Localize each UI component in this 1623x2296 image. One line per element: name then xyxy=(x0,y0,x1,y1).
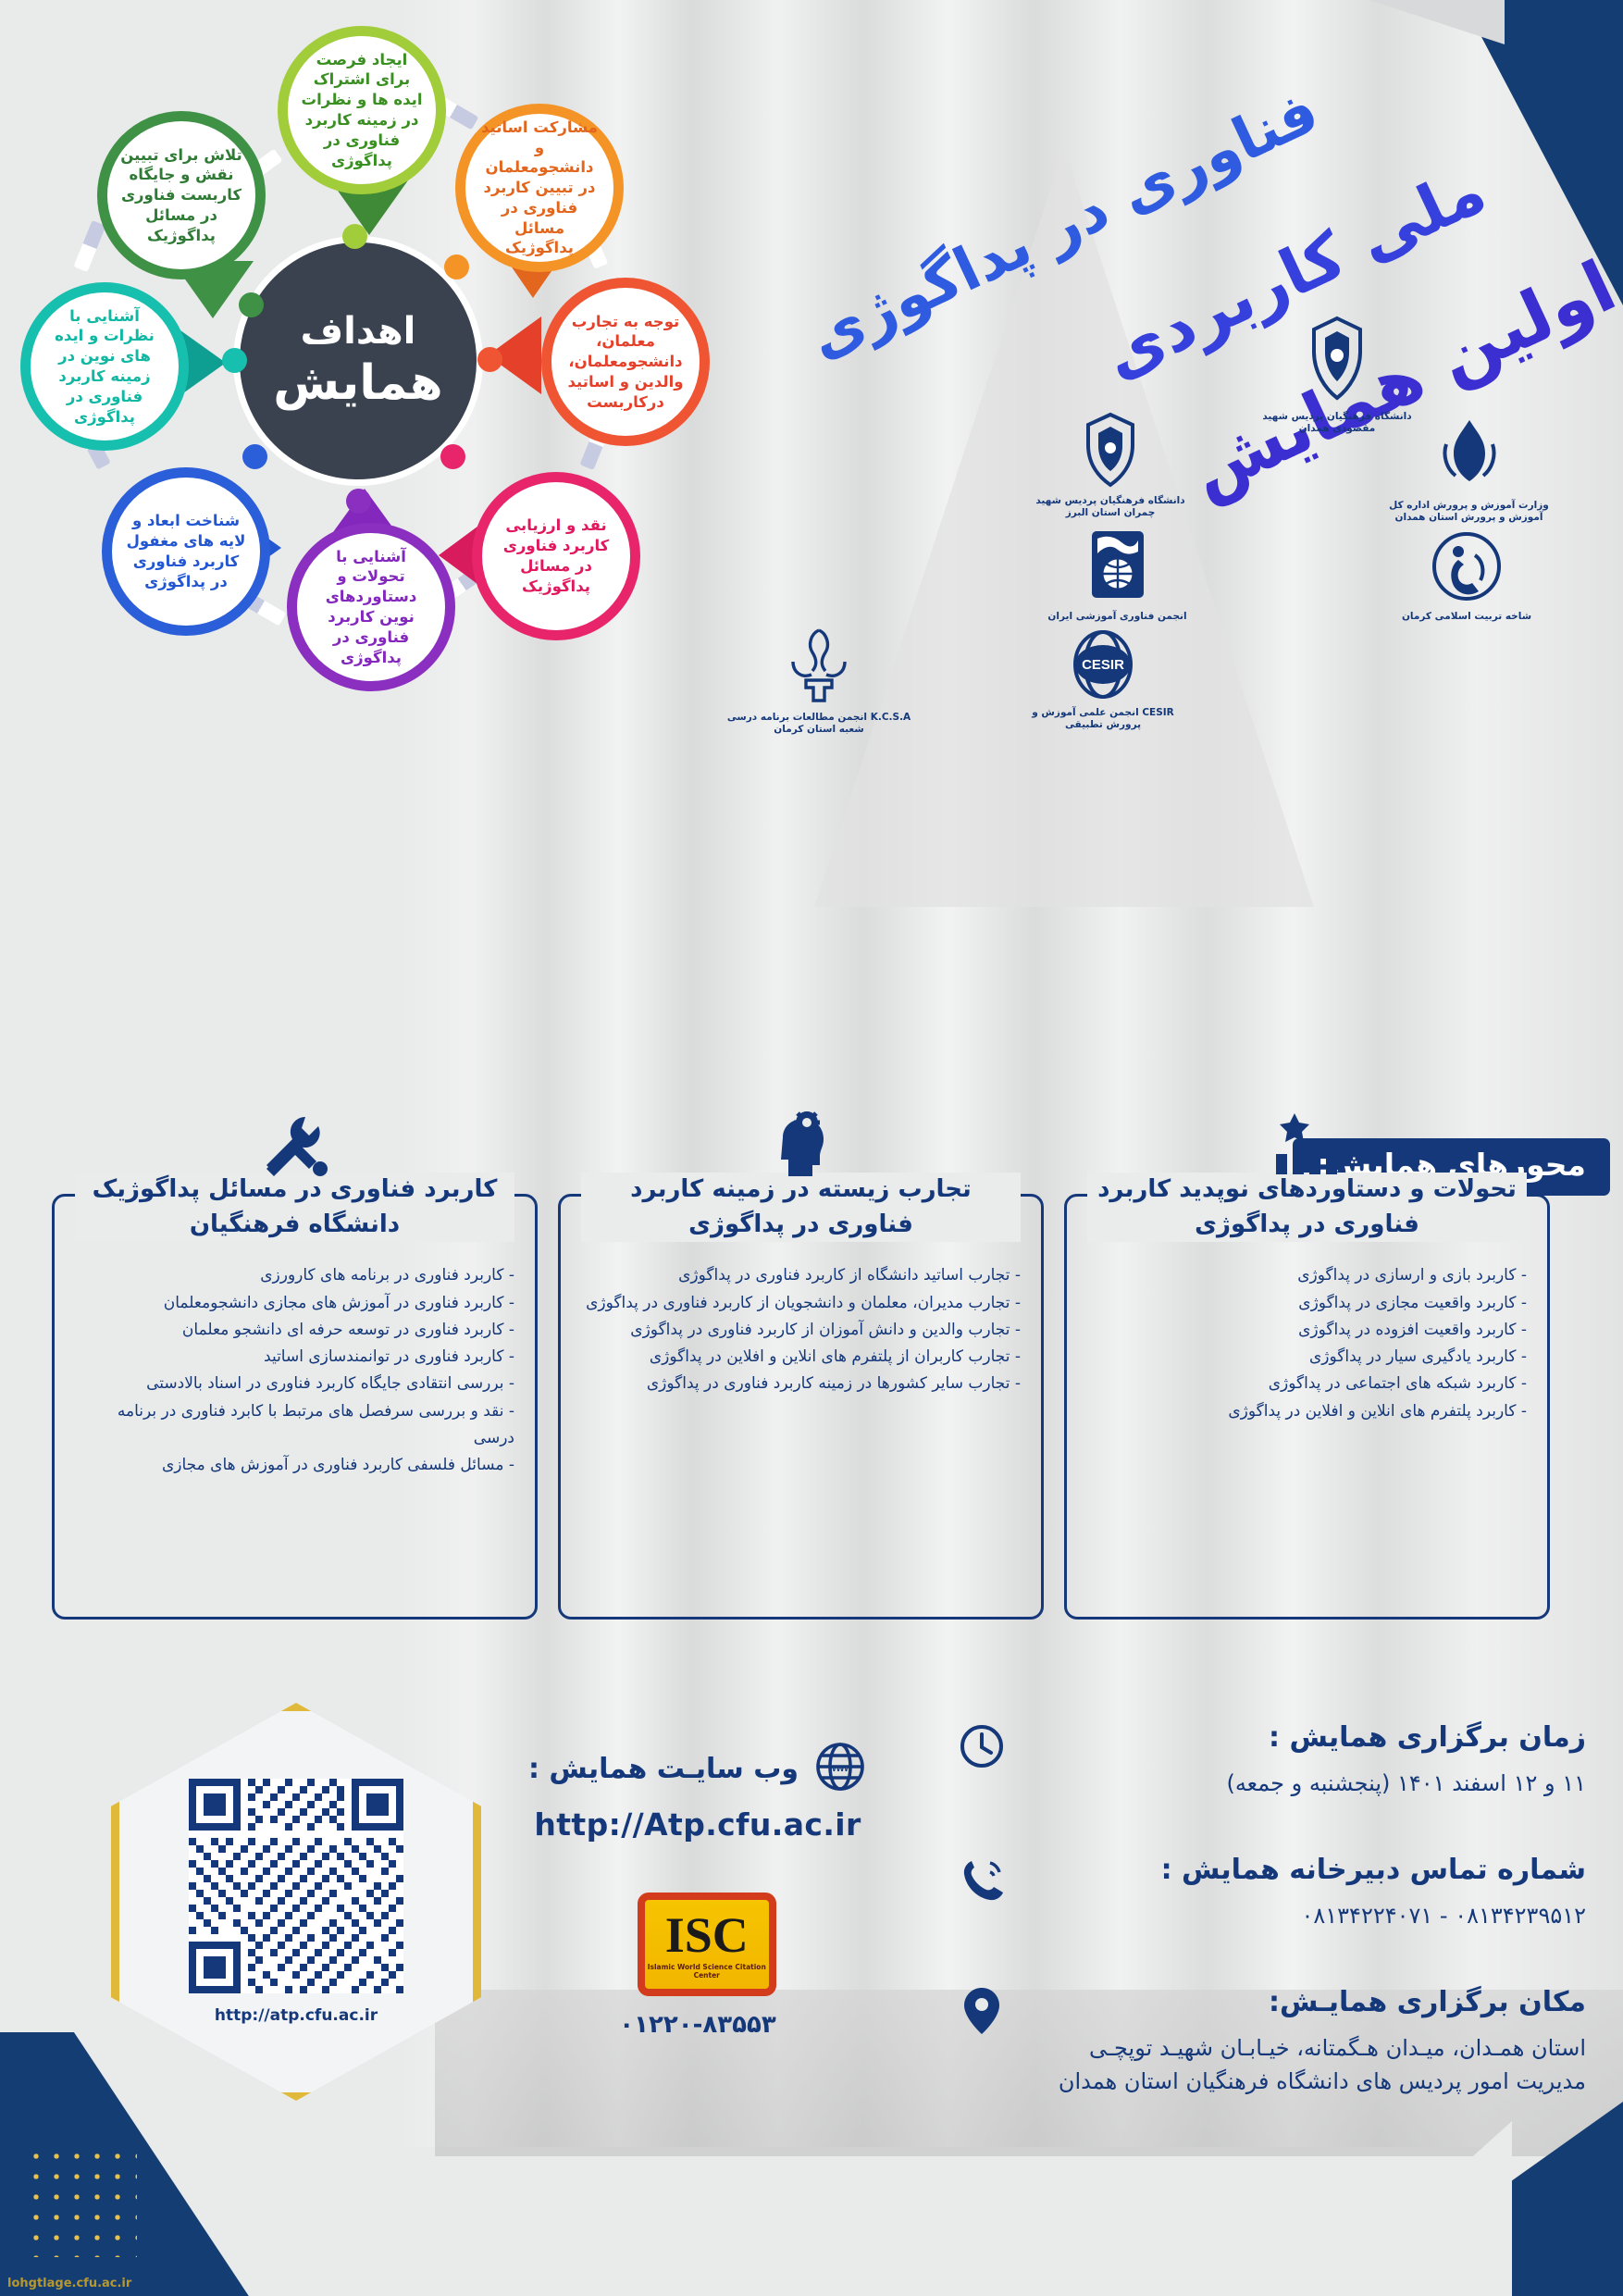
bar-chart-star-icon xyxy=(1270,1111,1344,1182)
hub-dot-pink xyxy=(440,444,465,469)
hub-dot-blue xyxy=(242,444,267,469)
objective-node-green: تلاش برای تبیین نقش و جایگاه کاربست فناو… xyxy=(97,111,266,279)
clock-icon xyxy=(957,1721,1007,1771)
svg-text:CESIR: CESIR xyxy=(1082,657,1124,673)
info-row-place: مکان برگزاری همایـش: استان همـدان، میـدا… xyxy=(957,1986,1586,2098)
location-pin-icon xyxy=(957,1986,1007,2036)
topic-item: - تجارب والدین و دانش آموزان از کاربرد ف… xyxy=(581,1317,1021,1344)
topic-item: - تجارب سایر کشورها در زمینه کاربرد فناو… xyxy=(581,1371,1021,1397)
topic-item: - بررسی انتقادی جایگاه کاربرد فناوری در … xyxy=(75,1371,514,1397)
decorative-dot-grid xyxy=(26,2146,137,2257)
farhangian-alborz-caption: دانشگاه فرهنگیان پردیس شهید چمران استان … xyxy=(1032,495,1189,519)
sponsor-logo-kcsa: K.C.S.A انجمن مطالعات برنامه درسی شعبه ا… xyxy=(726,625,911,736)
topic-box-lived-experiences: تجارب زیسته در زمینه کاربرد فناوری در پد… xyxy=(558,1194,1044,1620)
topic-item: - کاربرد شبکه های اجتماعی در پداگوژی xyxy=(1087,1371,1527,1397)
topic-item: - کاربرد فناوری در توانمندسازی اساتید xyxy=(75,1344,514,1371)
cesir-caption: CESIR انجمن علمی آموزش و پرورش تطبیقی xyxy=(1020,707,1186,731)
objective-node-lime-label: ایجاد فرصت برای اشتراک ایده ها و نظرات د… xyxy=(301,50,423,171)
info-row-date: زمان برگزاری همایش : ۱۱ و ۱۲ اسفند ۱۴۰۱ … xyxy=(957,1721,1586,1800)
phone-icon xyxy=(957,1854,1007,1904)
sponsor-logo-farhangian-alborz: دانشگاه فرهنگیان پردیس شهید چمران استان … xyxy=(1032,412,1189,519)
svg-text:www: www xyxy=(827,1763,852,1774)
connector-dash-8 xyxy=(73,220,105,272)
edu-technology-assoc-caption: انجمن فناوری آموزشی ایران xyxy=(1036,611,1198,623)
objective-node-lime: ایجاد فرصت برای اشتراک ایده ها و نظرات د… xyxy=(278,26,446,194)
sponsor-logo-edu-technology-assoc: انجمن فناوری آموزشی ایران xyxy=(1036,526,1198,623)
objective-node-red-label: توجه به تجارب معلمان، دانشجومعلمان، والد… xyxy=(564,312,687,413)
sponsor-logo-cesir: CESIR CESIR انجمن علمی آموزش و پرورش تطب… xyxy=(1020,629,1186,731)
objectives-diagram: ایجاد فرصت برای اشتراک ایده ها و نظرات د… xyxy=(0,0,703,731)
objective-node-teal-label: آشنایی با نظرات و ایده های نوین در زمینه… xyxy=(43,306,166,428)
topic-box-3-title: تحولات و دستاوردهای نوپدید کاربرد فناوری… xyxy=(1087,1173,1527,1242)
website-url[interactable]: http://Atp.cfu.ac.ir xyxy=(476,1806,920,1843)
website-block: www وب سایـت همایش : http://Atp.cfu.ac.i… xyxy=(476,1740,920,2039)
hub-line-1: اهداف xyxy=(301,310,416,353)
place-value: استان همـدان، میـدان هـگمتانه، خیـابـان … xyxy=(1023,2031,1586,2098)
topic-item: - نقد و بررسی سرفصل های مرتبط با کابرد ف… xyxy=(75,1398,514,1452)
farhangian-alborz-icon xyxy=(1032,412,1189,491)
conference-info: زمان برگزاری همایش : ۱۱ و ۱۲ اسفند ۱۴۰۱ … xyxy=(957,1721,1586,2152)
kcsa-caption: K.C.S.A انجمن مطالعات برنامه درسی شعبه ا… xyxy=(726,712,911,736)
website-label: وب سایـت همایش : xyxy=(528,1753,799,1785)
education-ministry-icon xyxy=(1388,416,1550,496)
topic-item: - کاربرد فناوری در برنامه های کارورزی xyxy=(75,1262,514,1289)
isc-logo: ISC Islamic World Science Citation Cente… xyxy=(638,1893,776,1996)
objective-node-purple-label: آشنایی با تحولات و دستاوردهای نوین کاربر… xyxy=(310,547,432,668)
topic-item: - تجارب کاربران از پلتفرم های انلاین و ا… xyxy=(581,1344,1021,1371)
topic-item: - کاربرد بازی و ارسازی در پداگوژی xyxy=(1087,1262,1527,1289)
objective-node-orange: مشارکت اساتید و دانشجومعلمان در تبیین کا… xyxy=(455,104,624,272)
head-gear-icon xyxy=(768,1111,835,1187)
topic-item: - کاربرد واقعیت افزوده در پداگوژی xyxy=(1087,1317,1527,1344)
objective-node-purple: آشنایی با تحولات و دستاوردهای نوین کاربر… xyxy=(287,523,455,691)
topic-box-1-list: - کاربرد فناوری در برنامه های کارورزی - … xyxy=(75,1262,514,1479)
topic-item: - مسائل فلسفی کاربرد فناوری در آموزش های… xyxy=(75,1452,514,1479)
date-label: زمان برگزاری همایش : xyxy=(1023,1721,1586,1754)
farhangian-university-icon xyxy=(1249,315,1425,407)
topic-box-3-list: - کاربرد بازی و ارسازی در پداگوژی - کارب… xyxy=(1087,1262,1527,1424)
objective-node-pink-label: نقد و ارزیابی کاربرد فناوری در مسائل پدا… xyxy=(495,515,617,596)
phone-label: شماره تماس دبیرخانه همایش : xyxy=(1023,1854,1586,1886)
hub-dot-purple xyxy=(346,489,371,514)
isc-brand: ISC xyxy=(665,1910,749,1960)
topic-item: - کاربرد پلتفرم های انلاین و افلاین در پ… xyxy=(1087,1398,1527,1425)
topic-item: - کاربرد فناوری در توسعه حرفه ای دانشجو … xyxy=(75,1317,514,1344)
objective-node-red: توجه به تجارب معلمان، دانشجومعلمان، والد… xyxy=(541,278,710,446)
topic-item: - کاربرد یادگیری سیار در پداگوژی xyxy=(1087,1344,1527,1371)
objective-node-orange-label: مشارکت اساتید و دانشجومعلمان در تبیین کا… xyxy=(478,118,601,258)
sponsor-logo-education-ministry: وزارت آموزش و پرورش اداره کل آموزش و پرو… xyxy=(1388,416,1550,524)
watermark-text: lohgtlage.cfu.ac.ir xyxy=(7,2277,131,2290)
topic-item: - تجارب مدیران، معلمان و دانشجویان از کا… xyxy=(581,1290,1021,1317)
education-ministry-caption: وزارت آموزش و پرورش اداره کل آموزش و پرو… xyxy=(1388,500,1550,524)
hub-dot-orange xyxy=(444,254,469,279)
hub-dot-red xyxy=(477,347,502,372)
edu-technology-assoc-icon xyxy=(1036,526,1198,607)
wrench-screwdriver-icon xyxy=(259,1111,331,1185)
hub-dot-green xyxy=(239,292,264,317)
hub-line-2: همایش xyxy=(273,356,442,412)
kcsa-icon xyxy=(726,625,911,708)
hub-dot-lime xyxy=(342,224,367,249)
objective-node-blue-label: شناخت ابعاد و لایه های مغفول کاربرد فناو… xyxy=(125,511,247,591)
objective-node-pink: نقد و ارزیابی کاربرد فناوری در مسائل پدا… xyxy=(472,472,640,640)
isc-badge: ISC Islamic World Science Citation Cente… xyxy=(619,1893,775,2039)
hub-dot-teal xyxy=(222,348,247,373)
cesir-icon: CESIR xyxy=(1020,629,1186,703)
isc-code: ۰۱۲۲۰-۸۳۵۵۳ xyxy=(619,2011,775,2039)
topic-item: - کاربرد واقعیت مجازی در پداگوژی xyxy=(1087,1290,1527,1317)
kerman-islamic-edu-icon xyxy=(1388,529,1545,607)
topic-item: - کاربرد فناوری در آموزش های مجازی دانشج… xyxy=(75,1290,514,1317)
isc-subtitle: Islamic World Science Citation Center xyxy=(645,1963,769,1980)
place-label: مکان برگزاری همایـش: xyxy=(1023,1986,1586,2018)
qr-code-image[interactable] xyxy=(189,1779,403,1993)
globe-www-icon: www xyxy=(813,1740,867,1797)
qr-code-caption: http://atp.cfu.ac.ir xyxy=(215,2006,378,2025)
axes-topic-boxes: کاربرد فناوری در مسائل پداگوژیک دانشگاه … xyxy=(52,1194,1579,1620)
sponsor-logos: دانشگاه فرهنگیان پردیس شهید مقصودی همدان… xyxy=(814,315,1518,703)
topic-box-new-developments: تحولات و دستاوردهای نوپدید کاربرد فناوری… xyxy=(1064,1194,1550,1620)
objective-node-teal: آشنایی با نظرات و ایده های نوین در زمینه… xyxy=(20,282,189,451)
topic-box-pedagogical-issues: کاربرد فناوری در مسائل پداگوژیک دانشگاه … xyxy=(52,1194,538,1620)
topic-item: - تجارب اساتید دانشگاه از کاربرد فناوری … xyxy=(581,1262,1021,1289)
sponsor-logo-kerman-islamic-edu: شاخه تربیت اسلامی کرمان xyxy=(1388,529,1545,623)
topic-box-2-list: - تجارب اساتید دانشگاه از کاربرد فناوری … xyxy=(581,1262,1021,1397)
poster-root: اولین همایش ملی کاربردی فناوری در پداگوژ… xyxy=(0,0,1623,2296)
objective-node-green-label: تلاش برای تبیین نقش و جایگاه کاربست فناو… xyxy=(120,145,242,246)
kerman-islamic-edu-caption: شاخه تربیت اسلامی کرمان xyxy=(1388,611,1545,623)
objective-node-blue: شناخت ابعاد و لایه های مغفول کاربرد فناو… xyxy=(102,467,270,636)
phone-value: ۰۸۱۳۴۲۳۹۵۱۲ - ۰۸۱۳۴۲۲۴۰۷۱ xyxy=(1023,1899,1586,1932)
date-value: ۱۱ و ۱۲ اسفند ۱۴۰۱ (پنجشنبه و جمعه) xyxy=(1023,1767,1586,1800)
info-row-phone: شماره تماس دبیرخانه همایش : ۰۸۱۳۴۲۳۹۵۱۲ … xyxy=(957,1854,1586,1932)
